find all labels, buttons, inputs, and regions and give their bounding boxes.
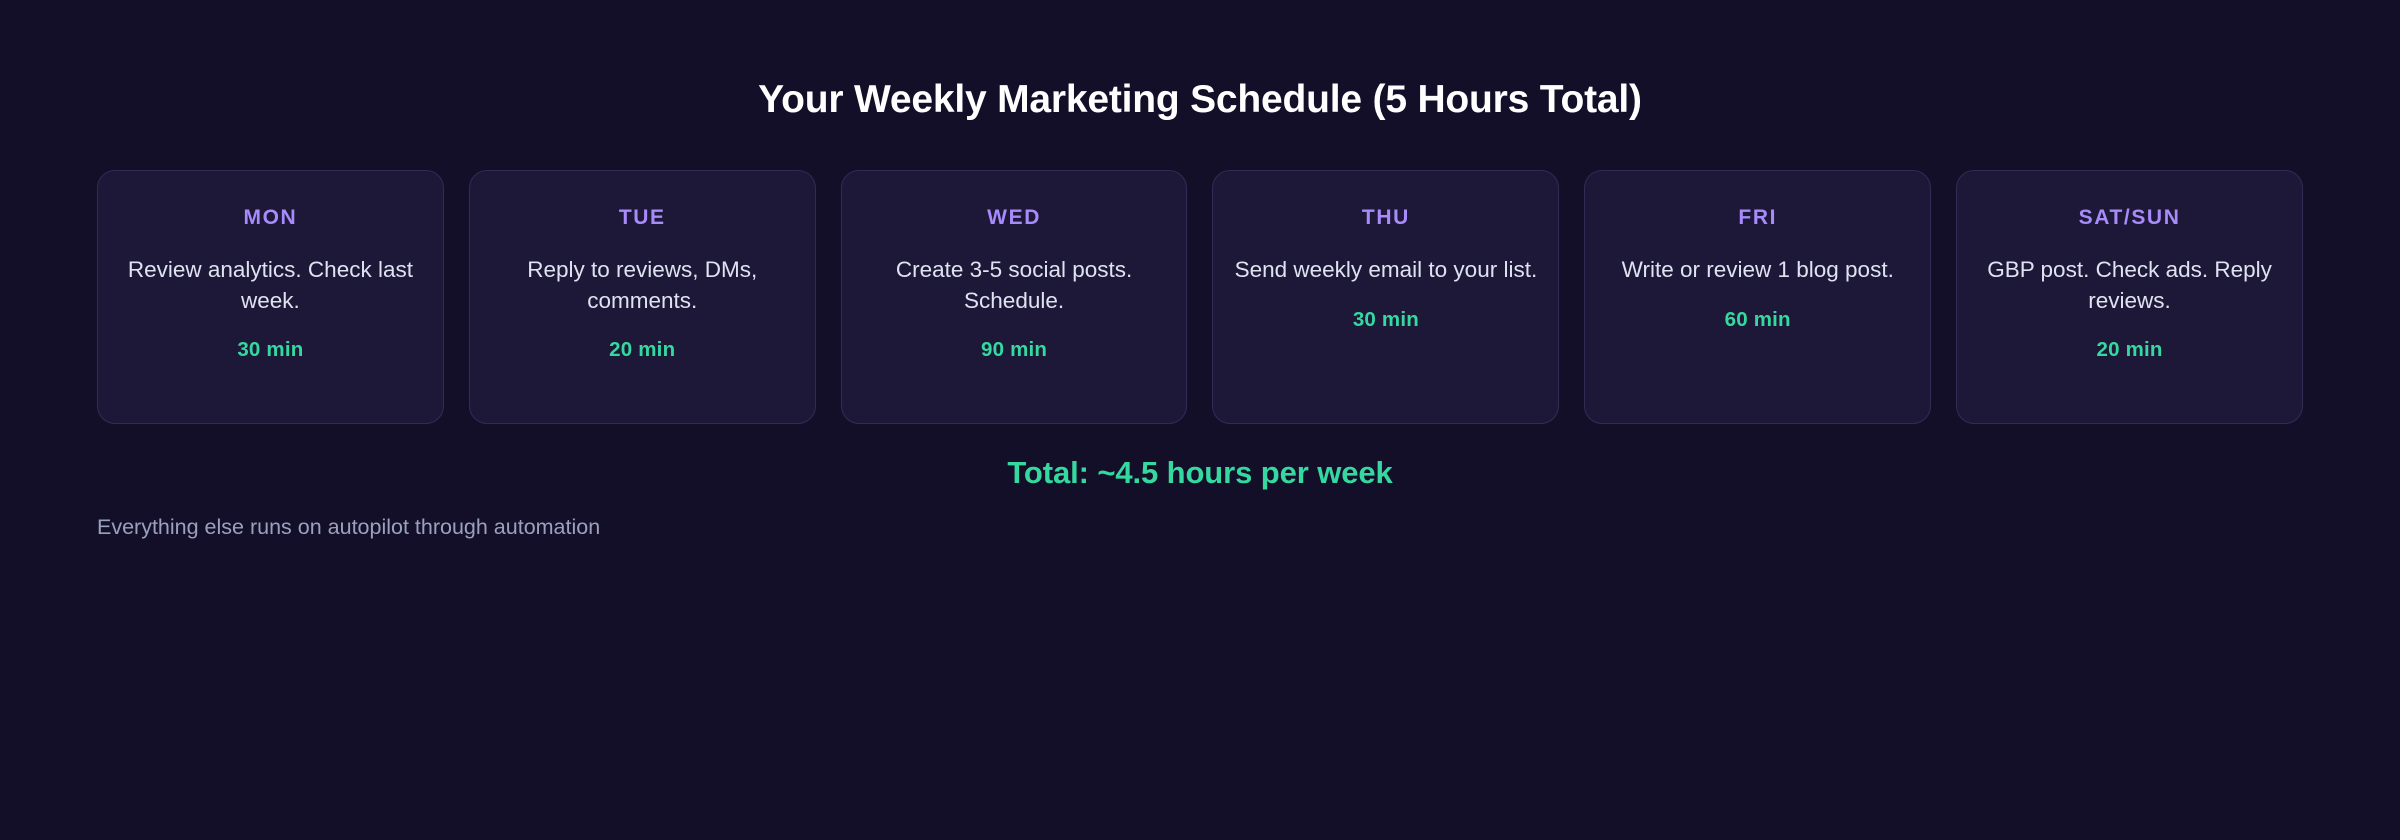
day-label: SAT/SUN: [2079, 207, 2181, 228]
weekly-schedule-page: Your Weekly Marketing Schedule (5 Hours …: [0, 0, 2400, 840]
day-label: MON: [244, 207, 298, 228]
day-card-thu: THU Send weekly email to your list. 30 m…: [1212, 170, 1559, 424]
day-card-wed: WED Create 3-5 social posts. Schedule. 9…: [841, 170, 1188, 424]
day-card-fri: FRI Write or review 1 blog post. 60 min: [1584, 170, 1931, 424]
day-label: THU: [1362, 207, 1410, 228]
day-task: GBP post. Check ads. Reply reviews.: [1975, 255, 2284, 316]
day-duration: 30 min: [237, 340, 303, 361]
day-label: FRI: [1738, 207, 1777, 228]
schedule-card-row: MON Review analytics. Check last week. 3…: [97, 170, 2303, 424]
day-duration: 20 min: [609, 340, 675, 361]
day-label: TUE: [619, 207, 666, 228]
day-card-mon: MON Review analytics. Check last week. 3…: [97, 170, 444, 424]
day-task: Send weekly email to your list.: [1235, 255, 1538, 286]
day-label: WED: [987, 207, 1041, 228]
day-duration: 90 min: [981, 340, 1047, 361]
total-summary: Total: ~4.5 hours per week: [0, 455, 2400, 491]
day-task: Write or review 1 blog post.: [1622, 255, 1894, 286]
page-title: Your Weekly Marketing Schedule (5 Hours …: [0, 78, 2400, 123]
day-card-sat-sun: SAT/SUN GBP post. Check ads. Reply revie…: [1956, 170, 2303, 424]
day-duration: 30 min: [1353, 310, 1419, 331]
day-duration: 60 min: [1725, 310, 1791, 331]
day-task: Reply to reviews, DMs, comments.: [488, 255, 797, 316]
day-task: Create 3-5 social posts. Schedule.: [860, 255, 1169, 316]
footnote-text: Everything else runs on autopilot throug…: [97, 512, 600, 542]
day-duration: 20 min: [2096, 340, 2162, 361]
day-task: Review analytics. Check last week.: [116, 255, 425, 316]
day-card-tue: TUE Reply to reviews, DMs, comments. 20 …: [469, 170, 816, 424]
